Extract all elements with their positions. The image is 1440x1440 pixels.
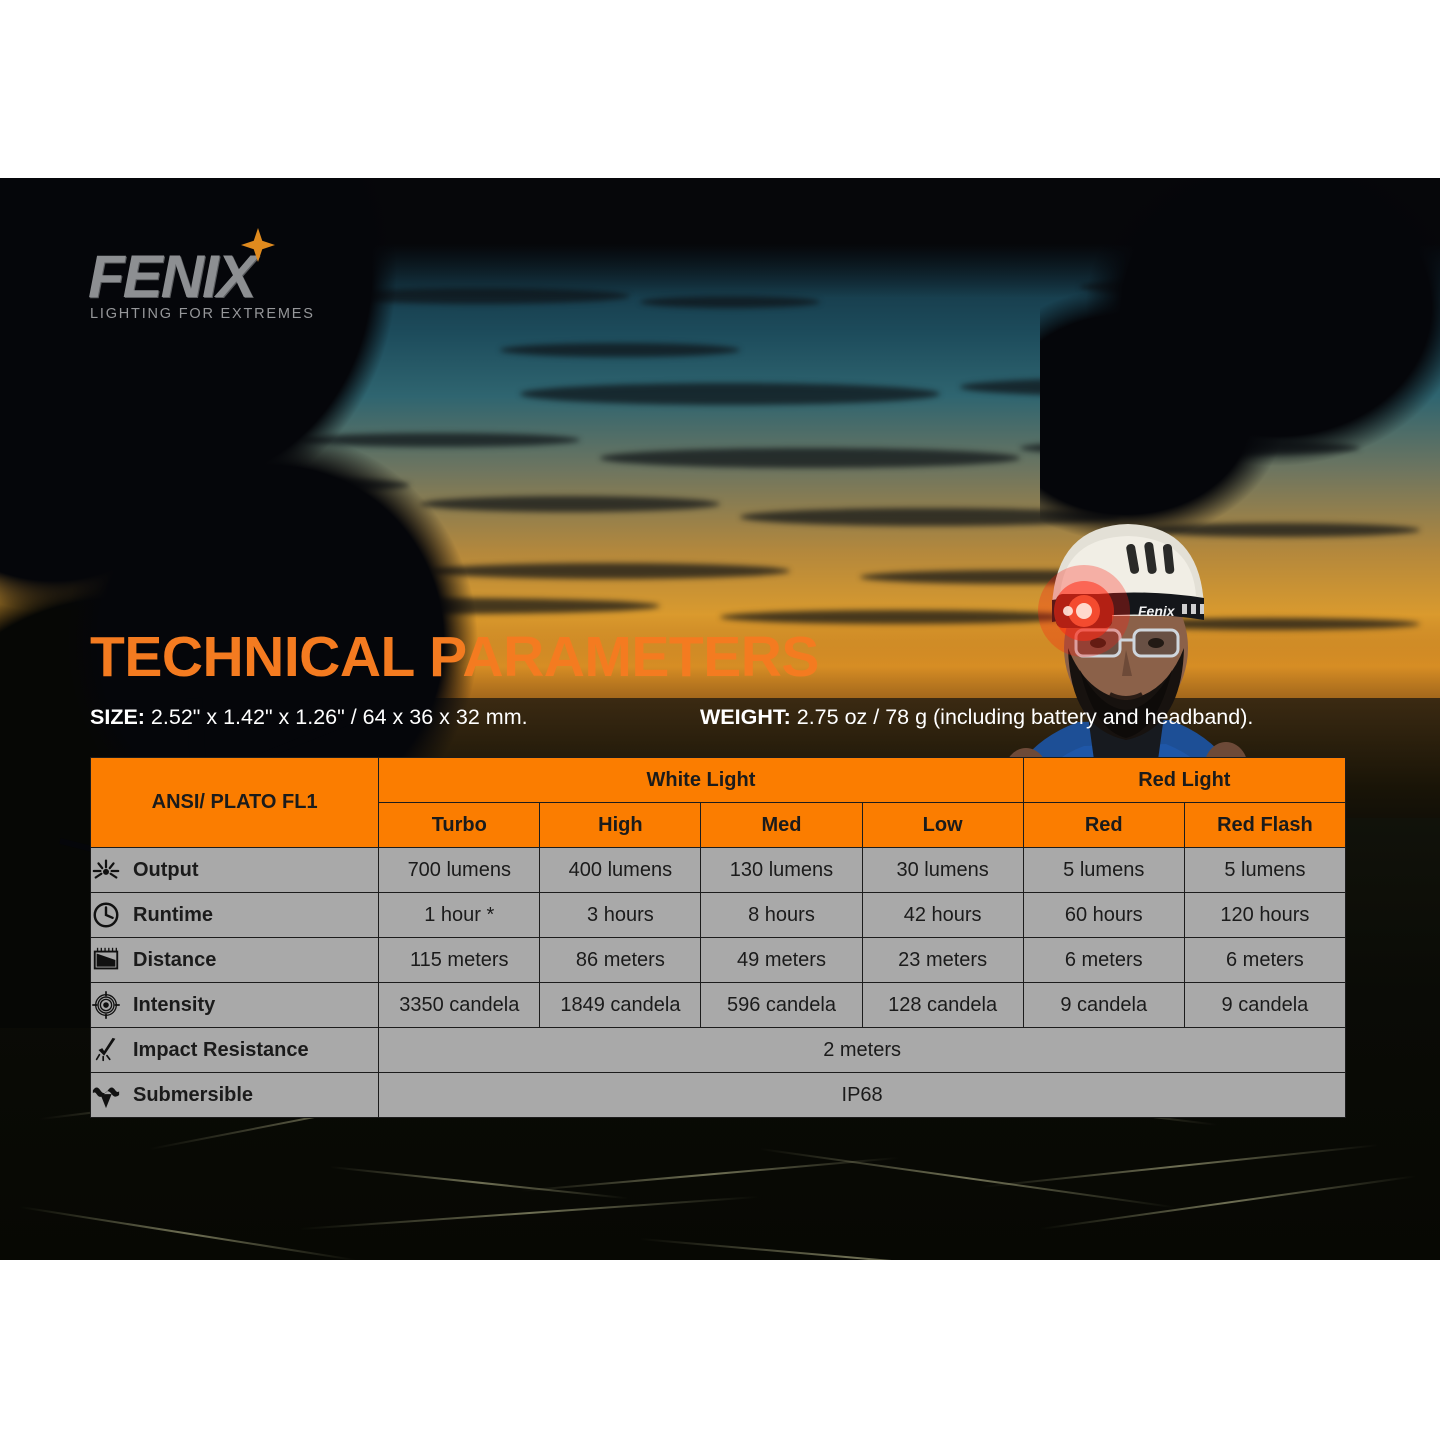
weight-spec: WEIGHT: 2.75 oz / 78 g (including batter… bbox=[700, 705, 1253, 730]
row-label-intensity: Intensity bbox=[91, 983, 379, 1028]
cell-output-low: 30 lumens bbox=[862, 848, 1023, 893]
svg-text:Fenix: Fenix bbox=[1138, 603, 1176, 619]
row-label-output: Output bbox=[91, 848, 379, 893]
cell-intensity-red-flash: 9 candela bbox=[1184, 983, 1345, 1028]
cloud-streak bbox=[430, 563, 790, 579]
cell-impact-resistance-value: 2 meters bbox=[379, 1028, 1346, 1073]
cell-distance-red: 6 meters bbox=[1023, 938, 1184, 983]
fenix-logo: FENIX LIGHTING FOR EXTREMES bbox=[88, 228, 388, 328]
cell-distance-red-flash: 6 meters bbox=[1184, 938, 1345, 983]
mode-header-low: Low bbox=[862, 803, 1023, 848]
mode-header-red: Red bbox=[1023, 803, 1184, 848]
cloud-streak bbox=[600, 448, 1020, 468]
row-label-text: Runtime bbox=[133, 904, 213, 927]
cloud-streak bbox=[500, 343, 740, 357]
cell-distance-turbo: 115 meters bbox=[379, 938, 540, 983]
grass-blade bbox=[300, 1196, 759, 1230]
row-label-text: Output bbox=[133, 859, 199, 882]
grass-blade bbox=[520, 1157, 899, 1192]
cell-output-med: 130 lumens bbox=[701, 848, 862, 893]
cell-runtime-high: 3 hours bbox=[540, 893, 701, 938]
row-label-text: Distance bbox=[133, 949, 216, 972]
mode-header-turbo: Turbo bbox=[379, 803, 540, 848]
row-label-submersible: Submersible bbox=[91, 1073, 379, 1118]
weight-label: WEIGHT: bbox=[700, 705, 791, 729]
mode-header-med: Med bbox=[701, 803, 862, 848]
cell-runtime-red: 60 hours bbox=[1023, 893, 1184, 938]
size-spec: SIZE: 2.52" x 1.42" x 1.26" / 64 x 36 x … bbox=[90, 705, 528, 730]
grass-blade bbox=[760, 1148, 1176, 1208]
fenix-tagline: LIGHTING FOR EXTREMES bbox=[90, 306, 315, 322]
cell-output-high: 400 lumens bbox=[540, 848, 701, 893]
page-title: TECHNICAL PARAMETERS bbox=[90, 624, 819, 690]
cloud-streak bbox=[520, 383, 940, 405]
cell-intensity-red: 9 candela bbox=[1023, 983, 1184, 1028]
table-row: Runtime 1 hour * 3 hours 8 hours 42 hour… bbox=[91, 893, 1346, 938]
cell-submersible-value: IP68 bbox=[379, 1073, 1346, 1118]
technical-parameters-table: ANSI/ PLATO FL1 White Light Red Light Tu… bbox=[90, 757, 1346, 1118]
row-label-text: Impact Resistance bbox=[133, 1039, 309, 1062]
cell-intensity-low: 128 candela bbox=[862, 983, 1023, 1028]
cell-intensity-med: 596 candela bbox=[701, 983, 862, 1028]
cell-intensity-high: 1849 candela bbox=[540, 983, 701, 1028]
cell-output-red-flash: 5 lumens bbox=[1184, 848, 1345, 893]
clock-icon bbox=[91, 900, 121, 930]
row-label-text: Intensity bbox=[133, 994, 215, 1017]
row-label-distance: Distance bbox=[91, 938, 379, 983]
row-label-impact-resistance: Impact Resistance bbox=[91, 1028, 379, 1073]
cell-runtime-med: 8 hours bbox=[701, 893, 862, 938]
size-value: 2.52" x 1.42" x 1.26" / 64 x 36 x 32 mm. bbox=[145, 705, 528, 729]
cell-runtime-red-flash: 120 hours bbox=[1184, 893, 1345, 938]
table-row: Intensity 3350 candela 1849 candela 596 … bbox=[91, 983, 1346, 1028]
product-spec-banner: Fenix FENIX LIGHTING FOR EXTREMES TECHNI… bbox=[0, 0, 1440, 1440]
grass-blade bbox=[980, 1144, 1378, 1188]
cell-runtime-low: 42 hours bbox=[862, 893, 1023, 938]
row-label-text: Submersible bbox=[133, 1084, 253, 1107]
group-header-red-light: Red Light bbox=[1023, 758, 1345, 803]
impact-resistance-icon bbox=[91, 1035, 121, 1065]
mode-header-high: High bbox=[540, 803, 701, 848]
beam-distance-icon bbox=[91, 945, 121, 975]
fenix-wordmark: FENIX bbox=[88, 242, 255, 311]
mode-header-red-flash: Red Flash bbox=[1184, 803, 1345, 848]
table-group-header-row: ANSI/ PLATO FL1 White Light Red Light bbox=[91, 758, 1346, 803]
table-row: Submersible IP68 bbox=[91, 1073, 1346, 1118]
light-output-icon bbox=[91, 855, 121, 885]
cell-distance-low: 23 meters bbox=[862, 938, 1023, 983]
grass-blade bbox=[330, 1166, 629, 1199]
row-label-runtime: Runtime bbox=[91, 893, 379, 938]
peak-intensity-icon bbox=[91, 990, 121, 1020]
cell-intensity-turbo: 3350 candela bbox=[379, 983, 540, 1028]
grass-blade bbox=[20, 1206, 356, 1260]
cell-distance-med: 49 meters bbox=[701, 938, 862, 983]
cell-distance-high: 86 meters bbox=[540, 938, 701, 983]
table-row: Impact Resistance 2 meters bbox=[91, 1028, 1346, 1073]
table-row: Output 700 lumens 400 lumens 130 lumens … bbox=[91, 848, 1346, 893]
grass-blade bbox=[1040, 1175, 1417, 1230]
group-header-white-light: White Light bbox=[379, 758, 1023, 803]
grass-blade bbox=[640, 1238, 1059, 1260]
size-label: SIZE: bbox=[90, 705, 145, 729]
cell-output-red: 5 lumens bbox=[1023, 848, 1184, 893]
four-point-star-icon bbox=[241, 228, 275, 262]
cell-output-turbo: 700 lumens bbox=[379, 848, 540, 893]
weight-value: 2.75 oz / 78 g (including battery and he… bbox=[791, 705, 1254, 729]
table-row: Distance 115 meters 86 meters 49 meters … bbox=[91, 938, 1346, 983]
technical-parameters-table-wrap: ANSI/ PLATO FL1 White Light Red Light Tu… bbox=[90, 757, 1346, 1118]
cell-runtime-turbo: 1 hour * bbox=[379, 893, 540, 938]
submersible-icon bbox=[91, 1080, 121, 1110]
table-corner-label: ANSI/ PLATO FL1 bbox=[91, 758, 379, 848]
